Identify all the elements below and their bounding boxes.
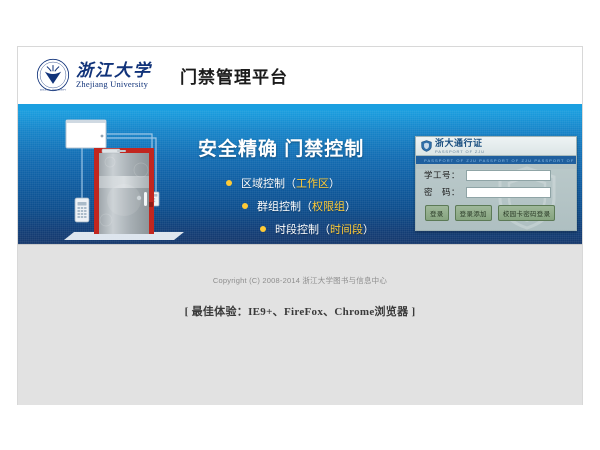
login-panel: 浙大通行证 PASSPORT OF ZJU PASSPORT OF ZJU PA… — [415, 136, 577, 231]
login-form: 学工号： 密 码： 登录 登录添加 校园卡密码登录 — [416, 169, 576, 231]
page-frame: ZHEJIANG UNIVERSITY 浙江大学 Zhejiang Univer… — [18, 47, 582, 404]
login-button-row: 登录 登录添加 校园卡密码登录 — [425, 205, 576, 221]
university-logo[interactable]: ZHEJIANG UNIVERSITY 浙江大学 Zhejiang Univer… — [36, 58, 152, 92]
banner-feature-list: 区域控制（工作区） 群组控制（权限组） 时段控制（时间段） — [198, 175, 428, 237]
login-panel-stripe: PASSPORT OF ZJU PASSPORT OF ZJU PASSPORT… — [416, 156, 576, 164]
feature-text-2: 群组控制（ — [257, 198, 312, 214]
zhejiang-university-seal-icon: ZHEJIANG UNIVERSITY — [36, 58, 70, 92]
campus-card-login-button[interactable]: 校园卡密码登录 — [498, 205, 556, 221]
bullet-dot-icon — [242, 203, 248, 209]
feature-highlight-3: 时间段 — [330, 221, 363, 237]
banner-headline: 安全精确 门禁控制 — [198, 134, 428, 161]
feature-tail-3: ） — [363, 221, 374, 237]
login-panel-title: 浙大通行证 — [435, 139, 485, 148]
username-input[interactable] — [466, 170, 551, 181]
banner-feature-item-1: 区域控制（工作区） — [226, 175, 428, 191]
password-input[interactable] — [466, 187, 551, 198]
site-header: ZHEJIANG UNIVERSITY 浙江大学 Zhejiang Univer… — [18, 47, 582, 110]
feature-highlight-2: 权限组 — [312, 198, 345, 214]
access-control-door-illustration-icon — [44, 114, 214, 244]
feature-tail-1: ） — [329, 175, 340, 191]
feature-text-1: 区域控制（ — [241, 175, 296, 191]
login-panel-titlebar: 浙大通行证 PASSPORT OF ZJU — [416, 137, 576, 156]
banner-feature-item-2: 群组控制（权限组） — [242, 198, 428, 214]
banner-copy: 安全精确 门禁控制 区域控制（工作区） 群组控制（权限组） 时段控制（时间段） — [198, 134, 428, 244]
banner-feature-item-3: 时段控制（时间段） — [260, 221, 428, 237]
bullet-dot-icon — [226, 180, 232, 186]
site-footer: Copyright (C) 2008-2014 浙江大学图书与信息中心 [ 最佳… — [18, 244, 582, 405]
feature-highlight-1: 工作区 — [296, 175, 329, 191]
bullet-dot-icon — [260, 226, 266, 232]
login-stripe-text: PASSPORT OF ZJU PASSPORT OF ZJU PASSPORT… — [416, 158, 576, 163]
feature-text-3: 时段控制（ — [275, 221, 330, 237]
browser-compatibility-note: [ 最佳体验：IE9+、FireFox、Chrome浏览器 ] — [18, 303, 582, 319]
login-button[interactable]: 登录 — [425, 205, 449, 221]
login-panel-subtitle: PASSPORT OF ZJU — [435, 149, 485, 154]
shield-icon — [421, 140, 432, 152]
username-label: 学工号： — [424, 169, 466, 181]
copyright-text: Copyright (C) 2008-2014 浙江大学图书与信息中心 — [18, 275, 582, 286]
hero-banner: 安全精确 门禁控制 区域控制（工作区） 群组控制（权限组） 时段控制（时间段） — [18, 110, 582, 244]
svg-text:ZHEJIANG UNIVERSITY: ZHEJIANG UNIVERSITY — [40, 88, 67, 91]
logo-chinese-name: 浙江大学 — [76, 62, 152, 79]
logo-english-name: Zhejiang University — [76, 80, 152, 89]
password-field-row: 密 码： — [424, 186, 576, 198]
page-title: 门禁管理平台 — [180, 63, 288, 88]
password-label: 密 码： — [424, 186, 466, 198]
login-add-button[interactable]: 登录添加 — [455, 205, 492, 221]
username-field-row: 学工号： — [424, 169, 576, 181]
feature-tail-2: ） — [345, 198, 356, 214]
